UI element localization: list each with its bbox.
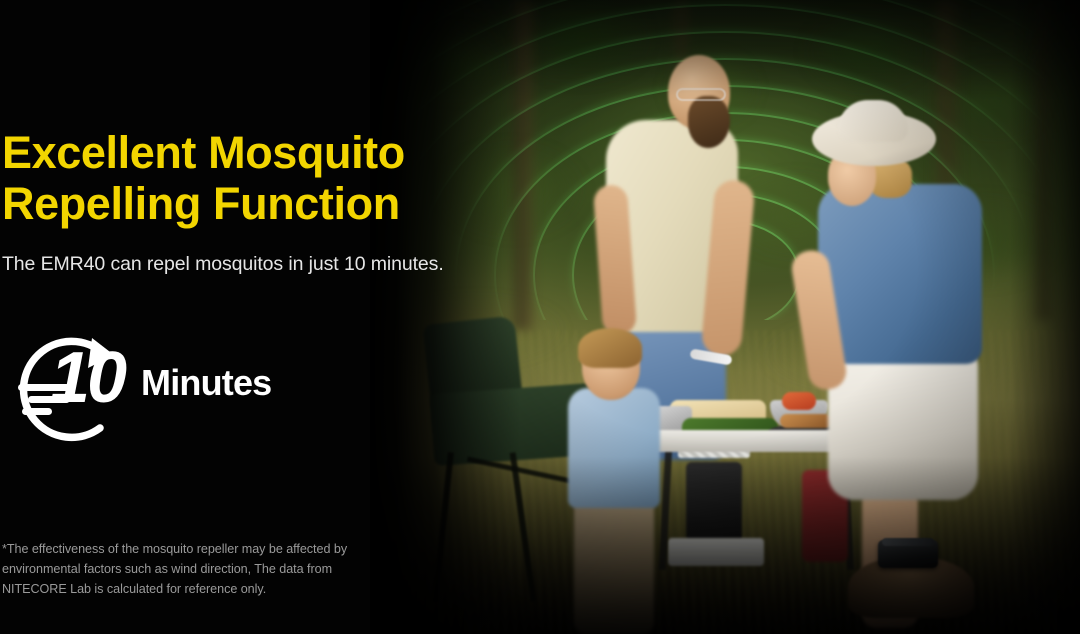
woman-denim-jacket [818, 184, 982, 364]
camping-scene-photo [370, 0, 1080, 634]
eyeglasses-icon [676, 88, 726, 101]
camp-stove [686, 462, 742, 540]
camp-stove-base [668, 538, 764, 566]
headline-line-1: Excellent Mosquito [2, 127, 405, 178]
ten-minutes-badge: 10 Minutes [4, 322, 304, 464]
woman-skirt [828, 350, 978, 500]
meat-skewers [780, 414, 832, 428]
subtitle: The EMR40 can repel mosquitos in just 10… [2, 253, 444, 276]
boy-hair [578, 328, 642, 368]
badge-number: 10 [50, 342, 124, 414]
boy-legs [574, 496, 654, 634]
boy-torso [568, 388, 660, 508]
woman-sun-hat-crown [838, 100, 908, 142]
page-title: Excellent Mosquito Repelling Function [2, 128, 462, 230]
vegetables [782, 392, 816, 410]
disclaimer-text: *The effectiveness of the mosquito repel… [2, 540, 394, 600]
emr40-device-top [882, 538, 934, 546]
headline-line-2: Repelling Function [2, 179, 462, 230]
promo-banner: Excellent Mosquito Repelling Function Th… [0, 0, 1080, 634]
badge-unit-label: Minutes [141, 365, 271, 401]
text-panel: Excellent Mosquito Repelling Function Th… [0, 0, 470, 634]
